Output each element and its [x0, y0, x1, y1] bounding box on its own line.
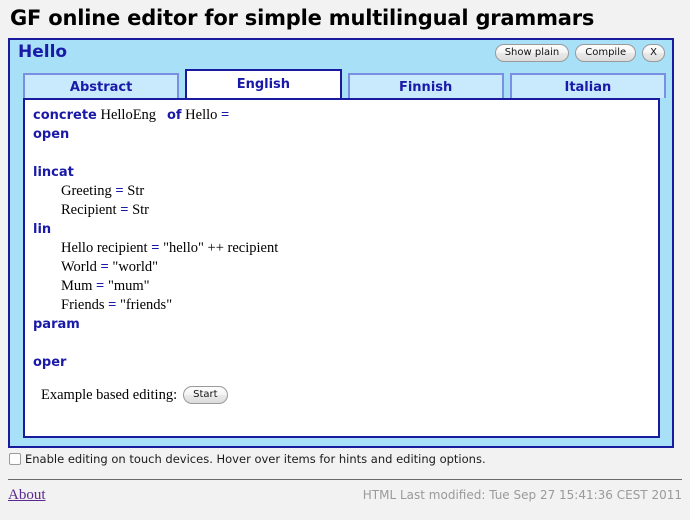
tab-abstract[interactable]: Abstract [23, 73, 179, 98]
code-blank-1 [25, 144, 658, 163]
equals-sign: = [115, 183, 123, 199]
module-name[interactable]: HelloEng [97, 107, 167, 123]
lin-rhs-hello: "hello" ++ recipient [163, 240, 278, 256]
example-based-editing-label: Example based editing: [41, 387, 177, 404]
panel-header-buttons: Show plain Compile X [495, 44, 665, 62]
lin-lhs-friends: Friends [61, 297, 105, 313]
lin-rhs-friends: "friends" [120, 297, 172, 313]
touch-option-row: Enable editing on touch devices. Hover o… [9, 452, 486, 466]
start-button[interactable]: Start [183, 386, 227, 404]
lin-entry-hello[interactable]: Hello recipient = "hello" ++ recipient [25, 239, 658, 258]
code-blank-2 [25, 334, 658, 353]
equals-sign: = [120, 202, 128, 218]
lin-lhs-hello: Hello recipient [61, 240, 148, 256]
keyword-concrete[interactable]: concrete [33, 108, 97, 123]
grammar-name-label: Hello [18, 42, 67, 62]
lincat-value-recipient: Str [132, 202, 149, 218]
keyword-lin[interactable]: lin [33, 222, 51, 237]
show-plain-button[interactable]: Show plain [495, 44, 570, 62]
example-based-editing-row: Example based editing: Start [25, 386, 658, 404]
code-line-param: param [25, 315, 658, 334]
close-button[interactable]: X [642, 44, 665, 62]
equals-sign: = [151, 240, 159, 256]
last-modified-text: HTML Last modified: Tue Sep 27 15:41:36 … [363, 488, 682, 502]
grammar-panel: Hello Show plain Compile X Abstract Engl… [8, 38, 674, 448]
equals-sign: = [96, 278, 104, 294]
lin-entry-friends[interactable]: Friends = "friends" [25, 296, 658, 315]
panel-header: Hello Show plain Compile X [10, 40, 672, 66]
tab-italian[interactable]: Italian [510, 73, 666, 98]
enable-touch-editing-checkbox[interactable] [9, 453, 21, 465]
lincat-name-greeting: Greeting [61, 183, 112, 199]
code-line-module-header: concrete HelloEng of Hello = [25, 106, 658, 125]
equals-sign: = [108, 297, 116, 313]
code-line-open: open [25, 125, 658, 144]
enable-touch-editing-label: Enable editing on touch devices. Hover o… [25, 452, 486, 466]
compile-button[interactable]: Compile [575, 44, 636, 62]
lin-rhs-world: "world" [112, 259, 158, 275]
page-footer: About HTML Last modified: Tue Sep 27 15:… [8, 487, 682, 504]
code-line-lin: lin [25, 220, 658, 239]
abstract-name[interactable]: Hello [182, 107, 221, 123]
equals-sign: = [221, 107, 229, 123]
code-line-lincat: lincat [25, 163, 658, 182]
tab-finnish[interactable]: Finnish [348, 73, 504, 98]
keyword-lincat[interactable]: lincat [33, 165, 74, 180]
language-tab-row: Abstract English Finnish Italian [23, 70, 666, 98]
lincat-value-greeting: Str [127, 183, 144, 199]
lin-entry-world[interactable]: World = "world" [25, 258, 658, 277]
lin-entry-mum[interactable]: Mum = "mum" [25, 277, 658, 296]
code-line-oper: oper [25, 353, 658, 372]
about-link[interactable]: About [8, 487, 46, 504]
keyword-oper[interactable]: oper [33, 355, 66, 370]
tab-english[interactable]: English [185, 69, 341, 98]
keyword-of[interactable]: of [167, 108, 182, 123]
lin-lhs-mum: Mum [61, 278, 92, 294]
keyword-open[interactable]: open [33, 127, 69, 142]
page-title: GF online editor for simple multilingual… [0, 0, 690, 34]
lin-rhs-mum: "mum" [108, 278, 150, 294]
equals-sign: = [101, 259, 109, 275]
lin-lhs-world: World [61, 259, 97, 275]
lincat-name-recipient: Recipient [61, 202, 117, 218]
lincat-entry-greeting[interactable]: Greeting = Str [25, 182, 658, 201]
footer-divider [8, 479, 682, 480]
keyword-param[interactable]: param [33, 317, 80, 332]
code-editor-area[interactable]: concrete HelloEng of Hello = open lincat… [23, 98, 660, 438]
lincat-entry-recipient[interactable]: Recipient = Str [25, 201, 658, 220]
